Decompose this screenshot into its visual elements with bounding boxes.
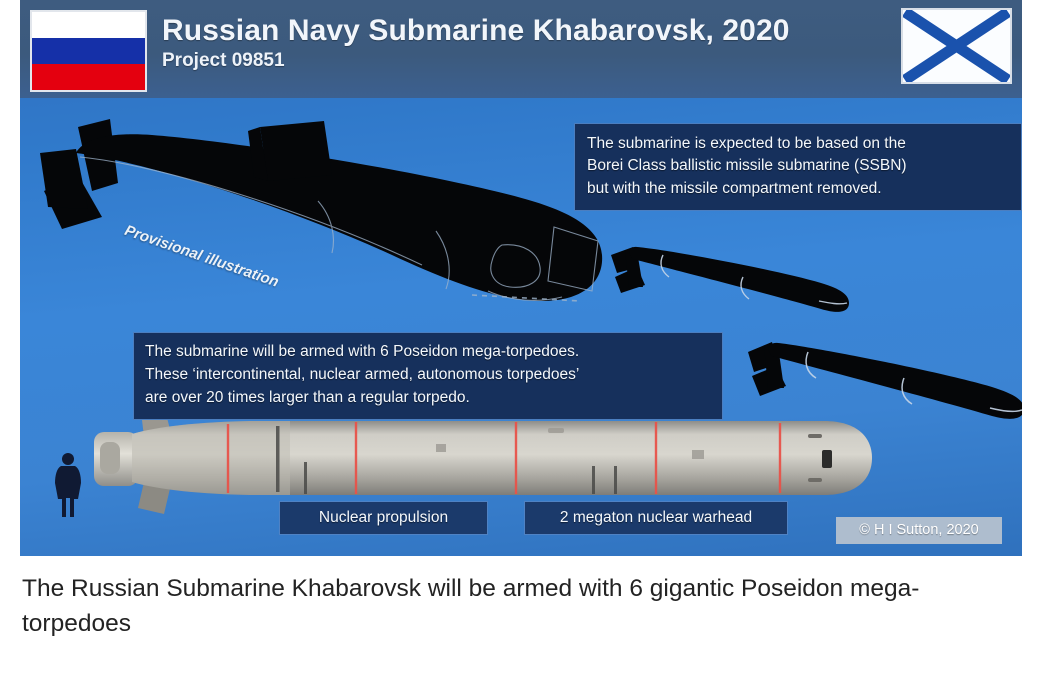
- callout-line: are over 20 times larger than a regular …: [145, 387, 711, 410]
- submarine-silhouette-icon: [32, 105, 612, 315]
- page-title: Russian Navy Submarine Khabarovsk, 2020: [162, 14, 822, 48]
- title-block: Russian Navy Submarine Khabarovsk, 2020 …: [162, 14, 822, 72]
- copyright-badge: © H I Sutton, 2020: [836, 517, 1002, 544]
- russian-flag-icon: [32, 12, 145, 90]
- callout-submarine-basis: The submarine is expected to be based on…: [574, 123, 1022, 211]
- callout-line: These ‘intercontinental, nuclear armed, …: [145, 364, 711, 387]
- label-nuclear-warhead: 2 megaton nuclear warhead: [524, 501, 788, 535]
- project-subtitle: Project 09851: [162, 50, 822, 72]
- callout-line: Borei Class ballistic missile submarine …: [587, 155, 1009, 177]
- page-root: Russian Navy Submarine Khabarovsk, 2020 …: [0, 0, 1041, 673]
- label-nuclear-propulsion: Nuclear propulsion: [279, 501, 488, 535]
- image-caption: The Russian Submarine Khabarovsk will be…: [22, 572, 1022, 642]
- human-scale-figure-icon: [51, 451, 85, 519]
- callout-line: The submarine will be armed with 6 Posei…: [145, 341, 711, 364]
- callout-line: but with the missile compartment removed…: [587, 178, 1009, 200]
- callout-line: The submarine is expected to be based on…: [587, 133, 1009, 155]
- torpedo-icon: [603, 233, 861, 325]
- callout-armament: The submarine will be armed with 6 Posei…: [133, 332, 723, 420]
- russian-navy-ensign-icon: [903, 10, 1010, 82]
- infographic-image: Russian Navy Submarine Khabarovsk, 2020 …: [20, 0, 1022, 556]
